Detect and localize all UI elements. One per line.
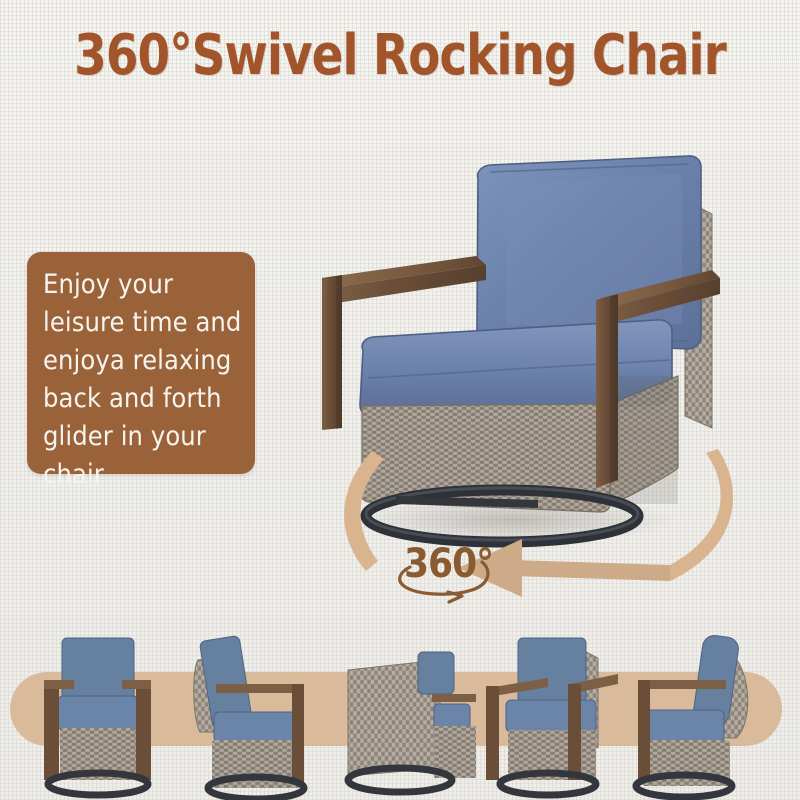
page-title: 360°Swivel Rocking Chair xyxy=(28,26,772,86)
thumbnail-rear-view[interactable] xyxy=(322,608,482,800)
back-cushion xyxy=(62,638,134,700)
rotation-arc-right xyxy=(670,449,733,581)
armrest-bar xyxy=(432,694,476,702)
product-marketing-image: 360°Swivel Rocking Chair Enjoy your leis… xyxy=(0,0,800,800)
thumbnail-side-view-left[interactable] xyxy=(170,608,330,800)
left-arm-post xyxy=(44,680,59,780)
swivel-base xyxy=(48,773,148,795)
arm-front-post xyxy=(638,680,650,782)
left-arm-post-shade xyxy=(336,275,342,429)
right-arm-post xyxy=(136,680,151,780)
thumbnail-side-view-right[interactable] xyxy=(626,608,786,800)
right-arm-post xyxy=(568,684,581,780)
thumbnail-three-quarter-view[interactable] xyxy=(474,608,634,800)
arm-front-post xyxy=(292,684,304,784)
rotation-badge-label: 360° xyxy=(404,544,493,584)
right-armrest xyxy=(122,680,151,689)
rotation-arc-left xyxy=(344,451,384,571)
thumbnail-front-view[interactable] xyxy=(18,608,178,800)
left-armrest xyxy=(44,680,74,689)
armrest-bar xyxy=(216,684,302,693)
rotation-badge: 360° xyxy=(392,540,512,606)
swivel-base xyxy=(500,773,596,795)
seat-cushion xyxy=(640,710,724,742)
seat-cushion xyxy=(214,712,300,742)
left-arm-post xyxy=(486,686,499,780)
armrest-bar xyxy=(638,680,726,689)
thumbnail-strip xyxy=(0,608,800,800)
feature-callout-box: Enjoy your leisure time and enjoya relax… xyxy=(27,252,255,474)
feature-callout-text: Enjoy your leisure time and enjoya relax… xyxy=(43,266,243,494)
seat-cushion xyxy=(506,700,596,732)
back-cushion-peek xyxy=(418,652,454,694)
seat-cushion xyxy=(58,696,138,730)
